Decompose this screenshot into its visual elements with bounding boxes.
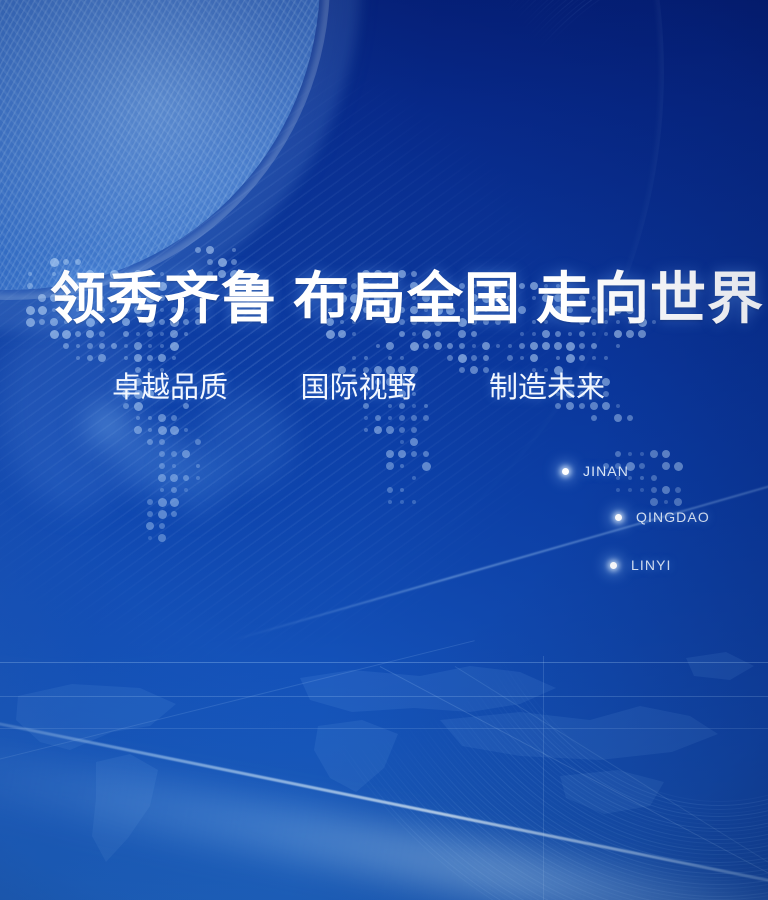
map-dot [172, 464, 176, 468]
map-dot [398, 450, 406, 458]
map-dot [148, 536, 152, 540]
city-label: QINGDAO [636, 509, 710, 525]
map-dot [674, 498, 682, 506]
grid-line-diagonal [0, 640, 475, 767]
map-dot [376, 344, 380, 348]
city-label: LINYI [631, 557, 672, 573]
map-dot [184, 488, 188, 492]
map-dot [566, 354, 575, 363]
page-title: 领秀齐鲁 布局全国 走向世界 [50, 268, 764, 332]
map-dot [136, 332, 140, 336]
map-dot [388, 500, 392, 504]
map-dot [364, 416, 368, 420]
map-dot [662, 462, 670, 470]
map-dot [472, 344, 476, 348]
map-dot [400, 500, 404, 504]
map-dot [616, 344, 620, 348]
map-dot [579, 355, 585, 361]
map-dot [412, 476, 416, 480]
map-dot [158, 354, 166, 362]
map-dot [111, 343, 117, 349]
map-dot [148, 344, 152, 348]
map-dot [171, 451, 177, 457]
map-dot [386, 462, 394, 470]
map-dot [591, 415, 597, 421]
map-dot [411, 415, 417, 421]
map-dot [554, 342, 562, 350]
map-dot [387, 487, 393, 493]
map-dot [172, 356, 176, 360]
map-dot [386, 342, 394, 350]
map-dot [651, 487, 657, 493]
map-dot [400, 356, 404, 360]
map-dot [27, 283, 33, 289]
map-dot [171, 487, 177, 493]
map-pin-dot-icon [562, 468, 569, 475]
map-dot [184, 332, 188, 336]
map-dot [508, 344, 512, 348]
map-dot [386, 450, 394, 458]
map-dot [530, 354, 538, 362]
map-dot [158, 426, 167, 435]
map-dot [76, 356, 80, 360]
map-dot [399, 427, 405, 433]
map-dot [146, 522, 154, 530]
map-dot [400, 488, 404, 492]
map-dot [471, 355, 477, 361]
map-dot [63, 259, 69, 265]
map-dot [99, 343, 105, 349]
map-dot [38, 294, 46, 302]
map-dot [579, 343, 585, 349]
map-dot [422, 462, 431, 471]
map-dot [170, 426, 179, 435]
map-dot [458, 354, 467, 363]
map-dot [207, 259, 213, 265]
map-dot [171, 511, 177, 517]
map-dot [38, 306, 47, 315]
map-dot [98, 354, 106, 362]
map-dot [410, 438, 418, 446]
map-dot [75, 259, 81, 265]
map-dot [170, 342, 179, 351]
map-pin-dot-icon [610, 562, 617, 569]
map-dot [400, 464, 404, 468]
map-dot [170, 498, 179, 507]
map-dot [604, 332, 608, 336]
map-dot [182, 450, 190, 458]
map-dot [28, 272, 32, 276]
map-dot [556, 356, 560, 360]
map-dot [148, 416, 152, 420]
map-dot [87, 355, 93, 361]
map-marker-jinan[interactable]: JINAN [562, 463, 629, 479]
subtitle-part-1: 卓越品质 [112, 372, 228, 404]
map-dot [412, 332, 416, 336]
map-dot [195, 247, 201, 253]
city-label: JINAN [583, 463, 629, 479]
map-dot [159, 463, 165, 469]
map-dot [591, 343, 597, 349]
map-dot [148, 428, 152, 432]
map-dot [375, 415, 381, 421]
map-dot [160, 344, 164, 348]
map-dot [231, 259, 237, 265]
map-dot [196, 464, 200, 468]
map-dot [410, 342, 419, 351]
map-dot [423, 451, 429, 457]
map-dot [640, 476, 644, 480]
map-marker-linyi[interactable]: LINYI [610, 557, 672, 573]
map-dot [459, 343, 465, 349]
map-marker-qingdao[interactable]: QINGDAO [615, 509, 710, 525]
map-dot [542, 342, 550, 350]
map-dot [566, 342, 575, 351]
map-dot [627, 415, 633, 421]
map-dot [39, 319, 45, 325]
map-dot [496, 344, 500, 348]
map-dot [374, 426, 382, 434]
map-dot [675, 487, 681, 493]
map-dot [662, 450, 670, 458]
map-dot [640, 452, 644, 456]
map-dot [662, 486, 670, 494]
map-dot [640, 488, 644, 492]
map-dot [158, 414, 166, 422]
map-dot [388, 356, 392, 360]
map-dot [650, 498, 658, 506]
map-dot [616, 404, 620, 408]
map-dot [160, 488, 164, 492]
map-dot [592, 332, 596, 336]
map-dot [674, 462, 683, 471]
map-dot [50, 258, 59, 267]
subtitle-part-2: 国际视野 [301, 372, 417, 404]
map-dot [26, 306, 35, 315]
map-dot [400, 440, 404, 444]
map-dot [639, 463, 645, 469]
map-dot [447, 343, 453, 349]
map-dot [159, 451, 165, 457]
map-dot [183, 475, 189, 481]
map-dot [530, 342, 538, 350]
map-dot [592, 356, 596, 360]
map-dot [147, 511, 153, 517]
map-dot [568, 332, 572, 336]
map-dot [650, 450, 658, 458]
map-dot [124, 344, 128, 348]
map-dot [616, 488, 620, 492]
map-dot [76, 344, 80, 348]
map-dot [147, 499, 153, 505]
map-dot [399, 415, 405, 421]
map-dot [423, 415, 429, 421]
map-dot [615, 451, 621, 457]
map-dot [26, 318, 35, 327]
map-dot [171, 415, 177, 421]
map-dot [507, 355, 513, 361]
map-dot [628, 488, 632, 492]
map-dot [87, 343, 93, 349]
map-dot [520, 356, 524, 360]
map-dot [364, 356, 368, 360]
map-dot [519, 343, 525, 349]
map-dot [124, 356, 128, 360]
map-dot [388, 416, 392, 420]
map-dot [196, 476, 200, 480]
map-dot [159, 439, 165, 445]
map-dot [206, 246, 214, 254]
hero-banner: 领秀齐鲁 布局全国 走向世界 卓越品质 国际视野 制造未来 JINAN QING… [0, 0, 768, 900]
map-dot [136, 416, 140, 420]
map-dot [386, 426, 394, 434]
map-dot [447, 355, 453, 361]
map-dot [664, 500, 668, 504]
map-dot [218, 258, 227, 267]
map-dot [604, 356, 608, 360]
map-dot [628, 452, 632, 456]
map-dot [63, 343, 69, 349]
map-dot [134, 354, 142, 362]
map-dot [158, 510, 167, 519]
map-dot [614, 414, 622, 422]
map-dot [411, 451, 417, 457]
map-dot [158, 498, 167, 507]
map-dot [147, 355, 153, 361]
map-dot [532, 332, 536, 336]
grid-line-horizontal [0, 696, 768, 697]
map-dot [352, 332, 356, 336]
subtitle-part-3: 制造未来 [489, 372, 605, 404]
map-pin-dot-icon [615, 514, 622, 521]
banner-subtitle: 卓越品质 国际视野 制造未来 [112, 370, 605, 406]
map-dot [482, 342, 490, 350]
map-dot [232, 248, 236, 252]
map-dot [411, 427, 417, 433]
map-dot [434, 342, 442, 350]
map-dot [158, 474, 166, 482]
map-dot [159, 523, 165, 529]
map-dot [412, 500, 416, 504]
map-dot [160, 332, 164, 336]
map-dot [195, 439, 201, 445]
map-dot [134, 426, 142, 434]
map-dot [184, 428, 188, 432]
map-dot [423, 343, 429, 349]
map-dot [134, 342, 142, 350]
map-dot [170, 474, 178, 482]
map-dot [483, 355, 489, 361]
map-dot [352, 356, 356, 360]
map-dot [147, 439, 153, 445]
map-dot [651, 475, 657, 481]
map-dot [364, 428, 368, 432]
map-dot [520, 332, 524, 336]
map-dot [158, 534, 166, 542]
